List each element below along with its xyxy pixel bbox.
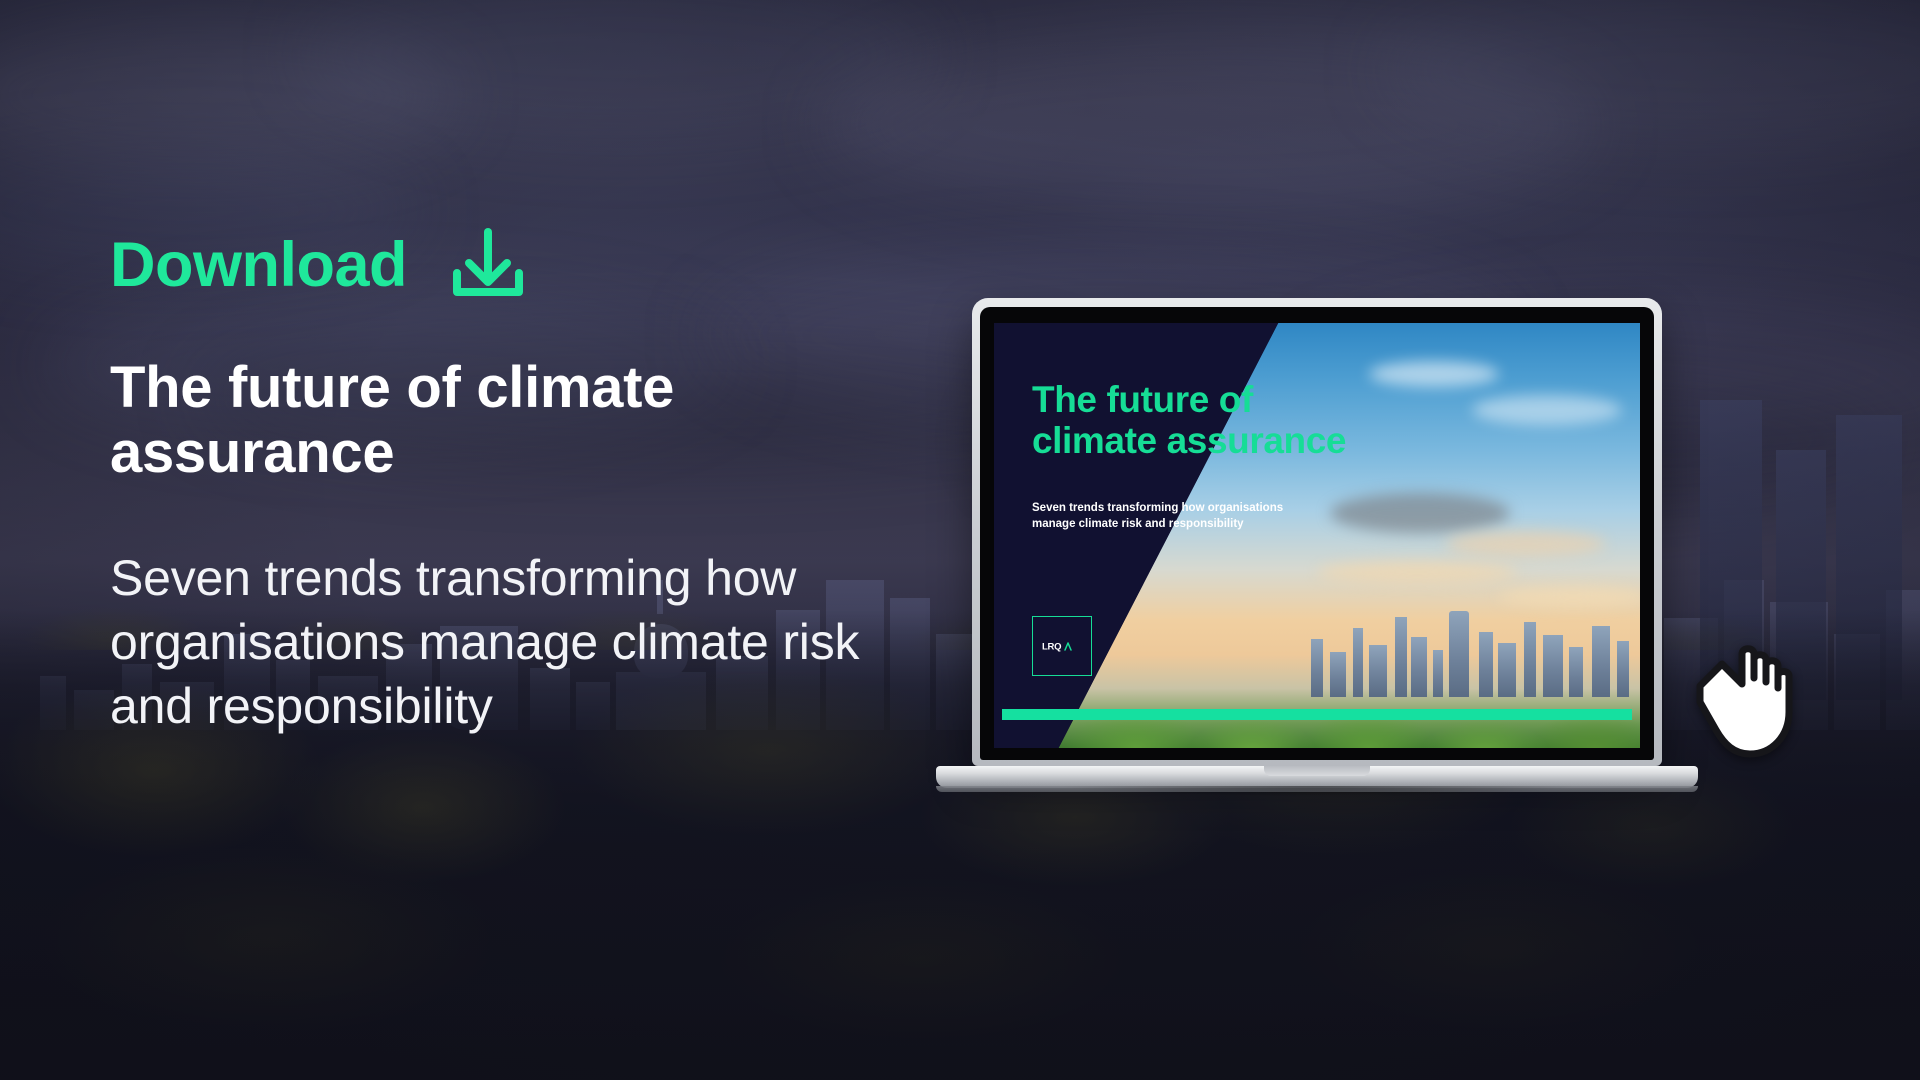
laptop-drop-shadow bbox=[960, 786, 1674, 800]
svg-text:LRQ: LRQ bbox=[1042, 641, 1061, 652]
slide-accent-bar bbox=[1002, 709, 1632, 720]
banner-copy: Download The future of climate assurance… bbox=[110, 228, 990, 738]
download-label: Download bbox=[110, 234, 407, 297]
page-title: The future of climate assurance bbox=[110, 356, 810, 486]
laptop-base-notch bbox=[1264, 766, 1370, 776]
banner-stage: Download The future of climate assurance… bbox=[0, 0, 1920, 1080]
laptop-bezel: The future of climate assurance Seven tr… bbox=[980, 307, 1654, 760]
download-cta[interactable]: Download bbox=[110, 228, 990, 302]
slide-title: The future of climate assurance bbox=[1032, 379, 1362, 462]
lrqa-wordmark-icon: LRQ bbox=[1042, 640, 1082, 653]
laptop-base bbox=[936, 766, 1698, 796]
lrqa-logo: LRQ bbox=[1032, 616, 1092, 676]
slide-text-block: The future of climate assurance Seven tr… bbox=[1032, 379, 1640, 533]
pointing-hand-cursor[interactable] bbox=[1692, 632, 1804, 764]
slide-subtitle: Seven trends transforming how organisati… bbox=[1032, 500, 1287, 533]
download-icon[interactable] bbox=[445, 228, 531, 302]
page-subtitle: Seven trends transforming how organisati… bbox=[110, 546, 950, 738]
laptop-screen[interactable]: The future of climate assurance Seven tr… bbox=[994, 323, 1640, 748]
laptop-lid: The future of climate assurance Seven tr… bbox=[972, 298, 1662, 766]
laptop-mockup[interactable]: The future of climate assurance Seven tr… bbox=[972, 298, 1662, 796]
